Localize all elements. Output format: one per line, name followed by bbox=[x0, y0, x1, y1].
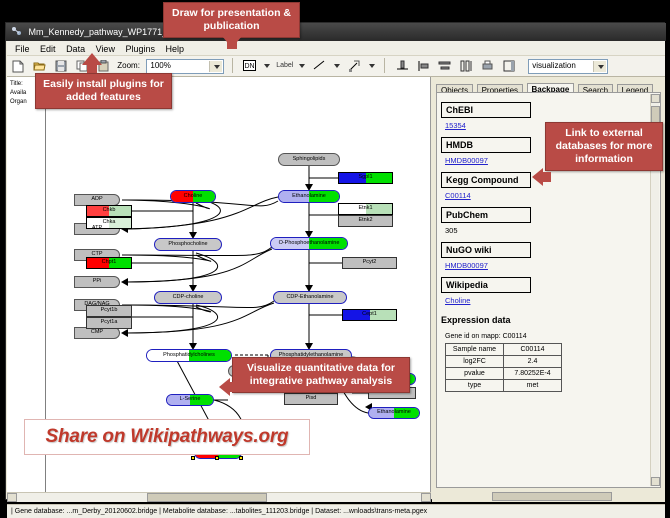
pathway-node-cept1[interactable]: Cept1 bbox=[342, 309, 397, 321]
toolbar-separator-2 bbox=[384, 58, 385, 73]
node-label: Etnk2 bbox=[358, 218, 372, 224]
db-heading-pubchem: PubChem bbox=[441, 207, 531, 223]
datanode-tool-icon[interactable]: DN bbox=[241, 57, 258, 76]
scroll-left-button[interactable] bbox=[7, 493, 17, 502]
node-label: Chka bbox=[103, 220, 116, 226]
node-label: PPi bbox=[93, 279, 102, 285]
pathway-node-ethanolamine-2[interactable]: Ethanolamine bbox=[368, 407, 420, 419]
callout-visualize-arrow bbox=[219, 378, 230, 396]
node-label: Cept1 bbox=[362, 312, 377, 318]
table-cell-value: C00114 bbox=[504, 344, 562, 356]
svg-text:DN: DN bbox=[245, 63, 255, 70]
db-heading-nugo-wiki: NuGO wiki bbox=[441, 242, 531, 258]
distribute-vertical-icon[interactable] bbox=[436, 57, 453, 76]
node-label: ATP bbox=[92, 226, 102, 232]
expression-data-heading: Expression data bbox=[441, 315, 647, 325]
menu-edit[interactable]: Edit bbox=[36, 41, 60, 56]
chevron-down-icon-2[interactable] bbox=[593, 61, 606, 72]
pathway-node-cdp-choline[interactable]: CDP-choline bbox=[154, 291, 222, 304]
receptor-tool-icon[interactable] bbox=[346, 57, 363, 76]
node-label: CMP bbox=[91, 330, 103, 336]
node-label: Ethanolamine bbox=[377, 410, 411, 416]
node-label: Pcyt2 bbox=[363, 260, 377, 266]
db-heading-hmdb: HMDB bbox=[441, 137, 531, 153]
pathway-node-pisd[interactable]: Pisd bbox=[284, 393, 338, 405]
table-cell-key: type bbox=[446, 380, 504, 392]
statusbar: | Gene database: ...m_Derby_20120602.bri… bbox=[7, 504, 665, 518]
table-row: typemet bbox=[446, 380, 562, 392]
table-cell-key: Sample name bbox=[446, 344, 504, 356]
node-label: Chkb bbox=[103, 208, 116, 214]
sidepanel-toggle-icon[interactable] bbox=[501, 57, 518, 76]
chevron-down-icon[interactable] bbox=[209, 61, 222, 72]
node-label: L-Serine bbox=[180, 397, 201, 403]
node-label: Pcyt1b bbox=[101, 308, 118, 314]
label-dropdown-arrow[interactable] bbox=[298, 56, 307, 75]
pathvisio-icon bbox=[11, 26, 22, 37]
callout-draw: Draw for presentation & publication bbox=[163, 2, 300, 38]
node-label: Etnk1 bbox=[358, 206, 372, 212]
db-value-pubchem: 305 bbox=[445, 226, 647, 235]
print-icon[interactable] bbox=[479, 57, 496, 76]
node-label: Ethanolamine bbox=[292, 194, 326, 200]
selection-handle[interactable] bbox=[191, 456, 195, 460]
table-cell-key: log2FC bbox=[446, 356, 504, 368]
canvas-hscrollbar[interactable] bbox=[7, 492, 431, 502]
pathway-node-pcyt1a[interactable]: Pcyt1a bbox=[86, 317, 132, 329]
selection-handle[interactable] bbox=[215, 456, 219, 460]
menu-file[interactable]: File bbox=[11, 41, 34, 56]
table-cell-value: met bbox=[504, 380, 562, 392]
selection-handle[interactable] bbox=[239, 456, 243, 460]
db-link-kegg-compound[interactable]: C00114 bbox=[445, 191, 647, 200]
callout-plugins: Easily install plugins for added feature… bbox=[35, 73, 172, 109]
pathway-node-ppi[interactable]: PPi bbox=[74, 276, 120, 288]
pathway-node-chkb[interactable]: Chkb bbox=[86, 205, 132, 217]
pathway-node-etnk2[interactable]: Etnk2 bbox=[338, 215, 393, 227]
pathway-node-choline-top[interactable]: Choline bbox=[170, 190, 216, 203]
node-label: Chpt1 bbox=[102, 260, 117, 266]
visualization-combo[interactable]: visualization bbox=[528, 59, 608, 74]
table-row: pvalue7.80252E-4 bbox=[446, 368, 562, 380]
db-heading-wikipedia: Wikipedia bbox=[441, 277, 531, 293]
db-heading-kegg-compound: Kegg Compound bbox=[441, 172, 531, 188]
screenshot-root: Mm_Kennedy_pathway_WP1771_45176.gpml Fil… bbox=[0, 0, 670, 509]
gene-id-line: Gene id on mapp: C00114 bbox=[445, 333, 647, 340]
pathway-node-phosphatidylcholines[interactable]: Phosphatidylcholines bbox=[146, 349, 232, 362]
node-label: CDP-choline bbox=[173, 295, 204, 301]
table-row: Sample nameC00114 bbox=[446, 344, 562, 356]
menu-plugins[interactable]: Plugins bbox=[121, 41, 159, 56]
pathway-node-sgpl1[interactable]: Sgpl1 bbox=[338, 172, 393, 184]
node-label: Sphingolipids bbox=[293, 157, 326, 163]
node-label: Phosphocholine bbox=[168, 242, 207, 248]
callout-share: Share on Wikipathways.org bbox=[24, 419, 310, 455]
pathway-node-phosphocholine[interactable]: Phosphocholine bbox=[154, 238, 222, 251]
align-left-icon[interactable] bbox=[415, 57, 432, 76]
scroll-down-button[interactable] bbox=[651, 477, 660, 486]
visualization-value: visualization bbox=[532, 61, 576, 70]
scroll-right-button[interactable] bbox=[421, 493, 431, 502]
zoom-combo[interactable]: 100% bbox=[146, 59, 224, 74]
expression-data-table: Sample nameC00114log2FC2.4pvalue7.80252E… bbox=[445, 343, 562, 392]
datanode-dropdown-arrow[interactable] bbox=[263, 56, 272, 75]
menubar: File Edit Data View Plugins Help bbox=[7, 41, 665, 56]
line-tool-icon[interactable] bbox=[311, 57, 328, 76]
node-label: CDP-Ethanolamine bbox=[286, 295, 333, 301]
node-label: ADP bbox=[91, 197, 102, 203]
same-width-icon[interactable] bbox=[458, 57, 475, 76]
node-label: Sgpl1 bbox=[358, 175, 372, 181]
table-cell-value: 2.4 bbox=[504, 356, 562, 368]
db-link-wikipedia[interactable]: Choline bbox=[445, 296, 647, 305]
callout-plugins-arrow bbox=[82, 53, 102, 65]
node-label: CTP bbox=[92, 252, 103, 258]
callout-visualize: Visualize quantitative data for integrat… bbox=[232, 357, 410, 393]
node-label: O-Phosphoethanolamine bbox=[279, 241, 340, 247]
db-link-nugo-wiki[interactable]: HMDB00097 bbox=[445, 261, 647, 270]
callout-link: Link to external databases for more info… bbox=[545, 122, 663, 171]
pathway-node-o-phosphoethanolamine[interactable]: O-Phosphoethanolamine bbox=[270, 237, 348, 250]
new-file-icon[interactable] bbox=[10, 57, 27, 76]
pathway-node-ethanolamine-1[interactable]: Ethanolamine bbox=[278, 190, 340, 203]
node-label: Phosphatidylcholines bbox=[163, 353, 215, 359]
label-tool-label[interactable]: Label bbox=[276, 62, 293, 69]
zoom-label: Zoom: bbox=[117, 61, 140, 70]
side-panel-footer-box[interactable] bbox=[492, 492, 612, 501]
pathway-node-etnk1[interactable]: Etnk1 bbox=[338, 203, 393, 215]
table-cell-key: pvalue bbox=[446, 368, 504, 380]
menu-help[interactable]: Help bbox=[162, 41, 189, 56]
pathway-node-sphingolipids[interactable]: Sphingolipids bbox=[278, 153, 340, 166]
scroll-up-button[interactable] bbox=[651, 94, 660, 103]
callout-draw-arrow bbox=[222, 36, 242, 48]
callout-link-arrow bbox=[532, 168, 543, 186]
node-label: Pcyt1a bbox=[101, 320, 118, 326]
table-row: log2FC2.4 bbox=[446, 356, 562, 368]
receptor-dropdown-arrow[interactable] bbox=[368, 56, 377, 75]
pathway-node-pcyt2[interactable]: Pcyt2 bbox=[342, 257, 397, 269]
pathway-node-chpt1[interactable]: Chpt1 bbox=[86, 257, 132, 269]
pathway-node-l-serine-1[interactable]: L-Serine bbox=[166, 394, 214, 406]
pathway-node-cdp-ethanolamine[interactable]: CDP-Ethanolamine bbox=[273, 291, 347, 304]
side-panel-footer bbox=[432, 492, 665, 502]
window-titlebar: Mm_Kennedy_pathway_WP1771_45176.gpml bbox=[6, 23, 666, 41]
node-label: Pisd bbox=[306, 396, 317, 402]
align-top-icon[interactable] bbox=[394, 57, 411, 76]
db-heading-chebi: ChEBI bbox=[441, 102, 531, 118]
canvas-hscroll-thumb[interactable] bbox=[147, 493, 267, 502]
table-cell-value: 7.80252E-4 bbox=[504, 368, 562, 380]
zoom-value: 100% bbox=[150, 61, 170, 70]
side-panel-tabs: Objects Properties Backpage Search Legen… bbox=[436, 79, 652, 93]
toolbar-separator bbox=[232, 58, 233, 73]
line-dropdown-arrow[interactable] bbox=[333, 56, 342, 75]
node-label: Choline bbox=[184, 194, 203, 200]
